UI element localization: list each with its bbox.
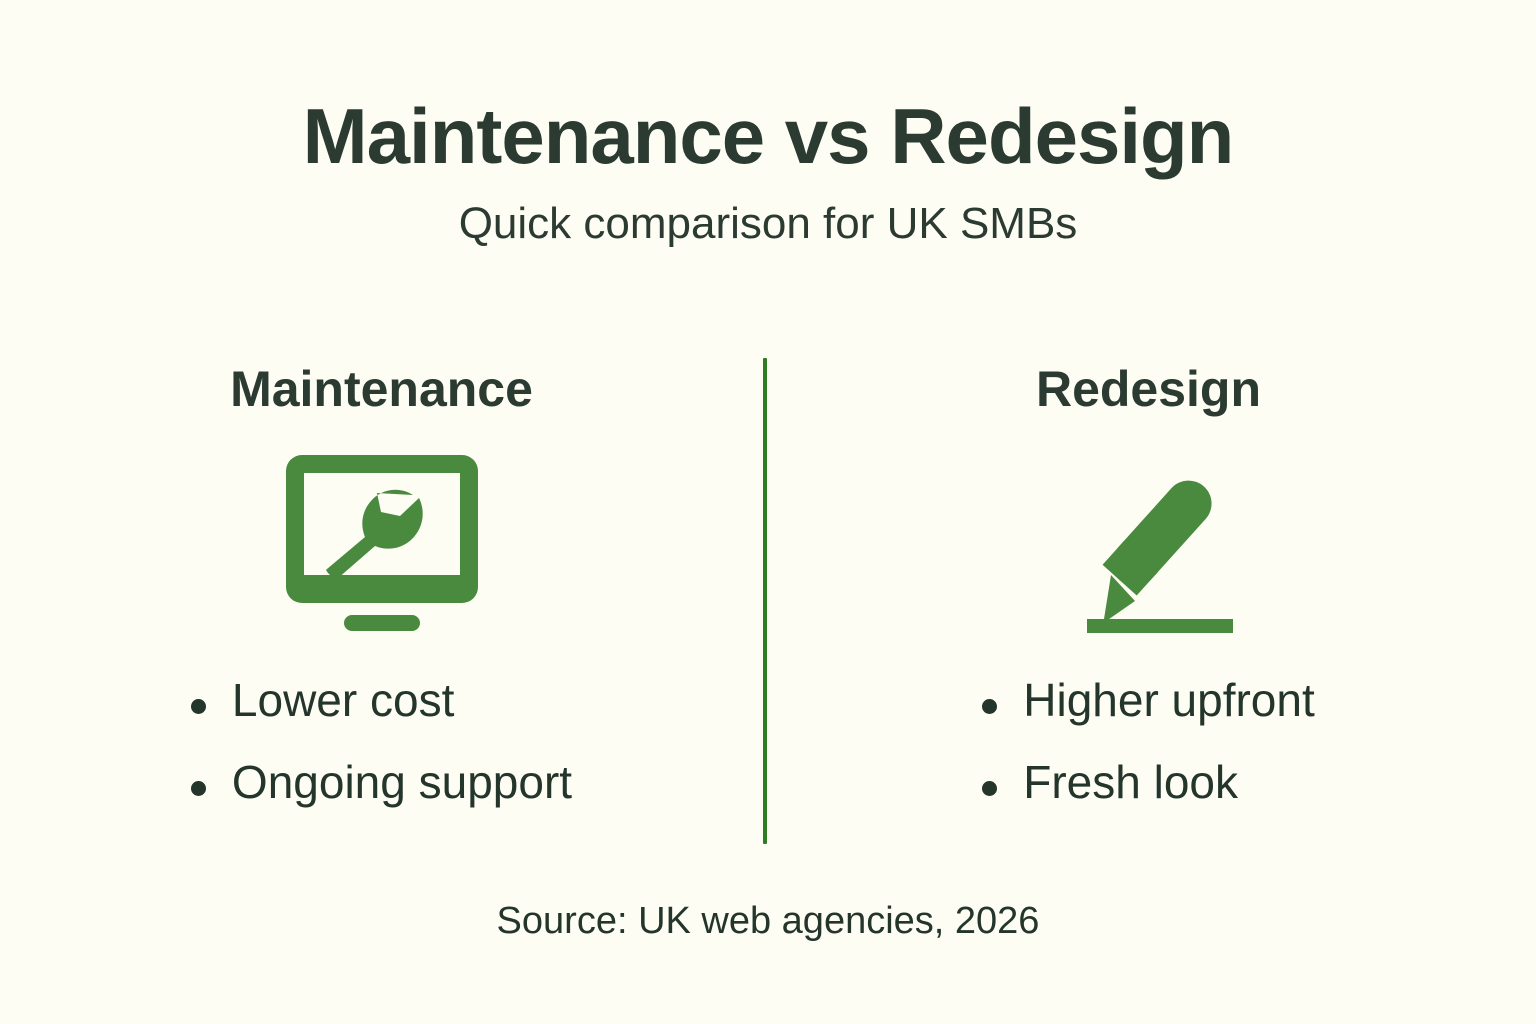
bullet-text: Ongoing support xyxy=(232,757,572,809)
bullet-dot-icon xyxy=(191,781,206,796)
bullet-list-redesign: Higher upfront Fresh look xyxy=(982,675,1315,808)
bullet-text: Lower cost xyxy=(232,675,454,727)
infographic-canvas: Maintenance vs Redesign Quick comparison… xyxy=(0,0,1536,1024)
bullet-dot-icon xyxy=(191,699,206,714)
bullet-dot-icon xyxy=(982,699,997,714)
bullet-text: Fresh look xyxy=(1023,757,1238,809)
column-redesign: Redesign High xyxy=(767,358,1530,824)
list-item: Higher upfront xyxy=(982,675,1315,727)
page-title: Maintenance vs Redesign xyxy=(0,96,1536,178)
list-item: Ongoing support xyxy=(191,757,572,809)
list-item: Fresh look xyxy=(982,757,1315,809)
pencil-icon xyxy=(1059,451,1239,641)
monitor-wrench-icon xyxy=(282,451,482,641)
bullet-dot-icon xyxy=(982,781,997,796)
comparison-columns: Maintenance Lower cost xyxy=(0,358,1536,848)
column-maintenance: Maintenance Lower cost xyxy=(0,358,763,824)
column-heading-redesign: Redesign xyxy=(1036,358,1261,417)
bullet-list-maintenance: Lower cost Ongoing support xyxy=(191,675,572,808)
page-subtitle: Quick comparison for UK SMBs xyxy=(0,200,1536,248)
header: Maintenance vs Redesign Quick comparison… xyxy=(0,96,1536,248)
source-note: Source: UK web agencies, 2026 xyxy=(0,900,1536,943)
list-item: Lower cost xyxy=(191,675,572,727)
bullet-text: Higher upfront xyxy=(1023,675,1315,727)
column-heading-maintenance: Maintenance xyxy=(230,358,533,417)
